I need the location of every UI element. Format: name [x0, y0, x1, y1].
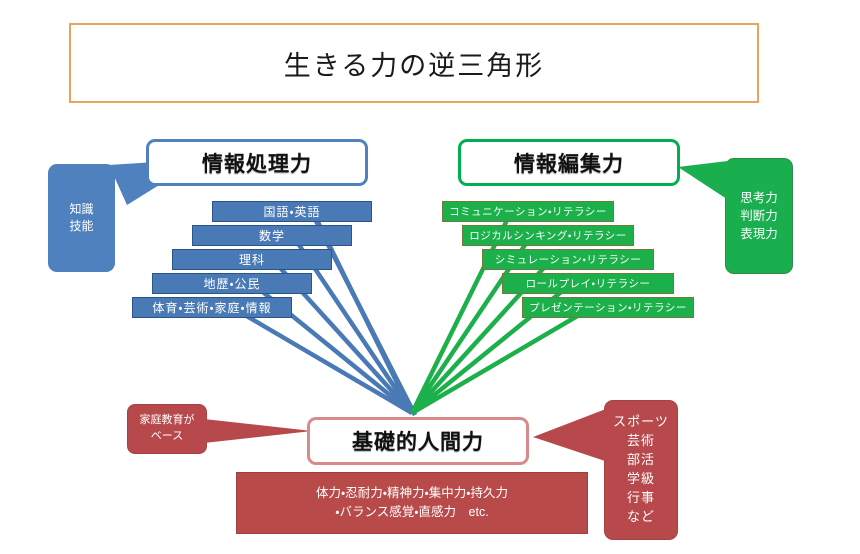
literacy-bar-role-play[interactable]: ロールプレイ・リテラシー	[502, 273, 674, 294]
literacy-bar-label: プレゼンテーション・リテラシー	[529, 300, 687, 315]
literacy-bar-simulation[interactable]: シミュレーション・リテラシー	[482, 249, 654, 270]
subject-bar-label: 地歴・公民	[203, 275, 260, 292]
callout-knowledge-line-1: 知識	[69, 201, 93, 218]
callout-sports-arts-clubs[interactable]: スポーツ 芸術 部活 学級 行事 など	[604, 400, 678, 540]
literacy-bar-logical-thinking[interactable]: ロジカルシンキング・リテラシー	[462, 225, 634, 246]
callout-thinking-line-3: 表現力	[740, 225, 778, 243]
literacy-bar-label: シミュレーション・リテラシー	[495, 252, 641, 267]
literacy-bar-label: ロールプレイ・リテラシー	[526, 276, 651, 291]
callout-sports-line-1: スポーツ	[613, 413, 669, 432]
literacy-bar-presentation[interactable]: プレゼンテーション・リテラシー	[522, 297, 694, 318]
header-information-processing[interactable]: 情報処理力	[146, 139, 368, 186]
subject-bar-geography-civics[interactable]: 地歴・公民	[152, 273, 312, 294]
callout-family-pointer	[204, 417, 314, 449]
callout-family-line-1: 家庭教育が	[140, 413, 195, 429]
callout-sports-line-2: 芸術	[627, 432, 655, 451]
callout-sports-line-6: など	[627, 508, 655, 527]
base-detail-line-2: ・バランス感覚・直感力 etc.	[335, 503, 488, 522]
callout-sports-line-4: 学級	[627, 470, 655, 489]
subject-bar-label: 理科	[239, 251, 265, 268]
subject-bar-label: 国語・英語	[263, 203, 320, 220]
literacy-bar-label: ロジカルシンキング・リテラシー	[469, 228, 627, 243]
literacy-bar-communication[interactable]: コミュニケーション・リテラシー	[442, 201, 614, 222]
callout-thinking-pointer	[678, 155, 748, 215]
callout-sports-line-3: 部活	[627, 451, 655, 470]
base-detail-line-1: 体力・忍耐力・精神力・集中力・持久力	[316, 484, 508, 503]
callout-family-line-2: ベース	[151, 429, 183, 445]
callout-sports-pointer	[533, 407, 613, 469]
header-left-label: 情報処理力	[202, 148, 312, 178]
header-information-editing[interactable]: 情報編集力	[458, 139, 680, 186]
base-detail-bar: 体力・忍耐力・精神力・集中力・持久力 ・バランス感覚・直感力 etc.	[236, 472, 588, 534]
header-right-label: 情報編集力	[514, 148, 624, 178]
subject-bar-japanese-english[interactable]: 国語・英語	[212, 201, 372, 222]
subject-bar-pe-art-home-info[interactable]: 体育・芸術・家庭・情報	[132, 297, 292, 318]
callout-family-education[interactable]: 家庭教育が ベース	[127, 404, 207, 454]
literacy-bar-label: コミュニケーション・リテラシー	[449, 204, 607, 219]
slide-canvas: 生きる力の逆三角形	[0, 0, 860, 554]
subject-bar-label: 体育・芸術・家庭・情報	[152, 299, 271, 316]
base-human-ability-box[interactable]: 基礎的人間力	[307, 417, 529, 465]
callout-thinking-judgment-expression[interactable]: 思考力 判断力 表現力	[725, 158, 793, 274]
subject-bar-math[interactable]: 数学	[192, 225, 352, 246]
subject-bar-label: 数学	[259, 227, 285, 244]
lattice-diagram	[0, 0, 860, 554]
callout-knowledge-skills[interactable]: 知識 技能	[48, 164, 115, 272]
callout-sports-line-5: 行事	[627, 489, 655, 508]
callout-knowledge-line-2: 技能	[69, 218, 93, 235]
subject-bar-science[interactable]: 理科	[172, 249, 332, 270]
base-title-label: 基礎的人間力	[352, 426, 484, 456]
